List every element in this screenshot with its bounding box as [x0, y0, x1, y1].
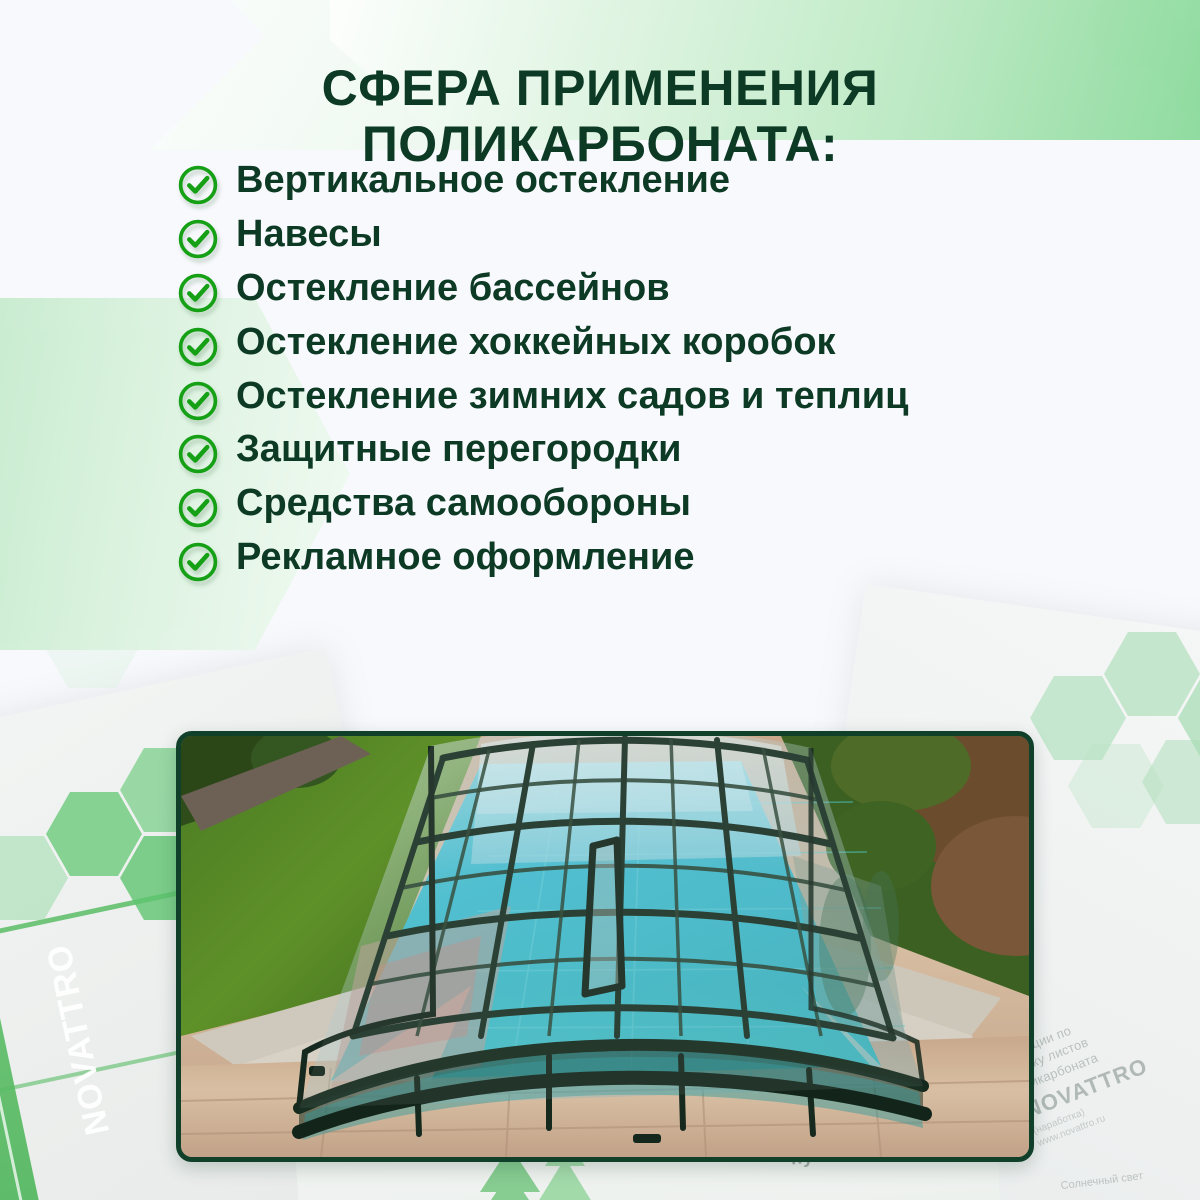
novattro-line-3: нтажу листов — [1007, 981, 1200, 1080]
list-item-label: Навесы — [236, 214, 382, 255]
list-item: Защитные перегородки — [176, 429, 1076, 476]
list-item-label: Вертикальное остекление — [236, 160, 730, 201]
novattro-website: www.novattro.ru — [1036, 1056, 1200, 1151]
list-item-label: Остекление хоккейных коробок — [236, 322, 836, 363]
brochure-bottom-small: Солнечный свет — [1060, 1156, 1200, 1192]
check-circle-icon — [176, 163, 220, 207]
brochure-left-logo: NOVATTRO — [40, 941, 118, 1139]
list-item-label: Средства самообороны — [236, 483, 691, 524]
list-item: Навесы — [176, 214, 1076, 261]
list-item: Остекление бассейнов — [176, 268, 1076, 315]
check-circle-icon — [176, 540, 220, 584]
list-item-label: Защитные перегородки — [236, 429, 681, 470]
list-item: Вертикальное остекление — [176, 160, 1076, 207]
list-item: Остекление зимних садов и теплиц — [176, 376, 1076, 423]
check-circle-icon — [176, 432, 220, 476]
application-list: Вертикальное остекление Навесы Остеклени… — [176, 160, 1076, 591]
brochure-green-bar — [0, 948, 52, 1200]
list-item: Остекление хоккейных коробок — [176, 322, 1076, 369]
check-circle-icon — [176, 379, 220, 423]
list-item-label: Остекление бассейнов — [236, 268, 670, 309]
pool-enclosure-photo — [176, 731, 1034, 1162]
list-item-label: Остекление зимних садов и теплиц — [236, 376, 909, 417]
page-title: СФЕРА ПРИМЕНЕНИЯ ПОЛИКАРБОНАТА: — [0, 60, 1200, 173]
check-circle-icon — [176, 271, 220, 315]
check-circle-icon — [176, 486, 220, 530]
novattro-brand: NOVATTRO — [1020, 1015, 1200, 1125]
novattro-brand-sub: (наработка) — [1031, 1043, 1200, 1138]
list-item-label: Рекламное оформление — [236, 537, 694, 578]
check-circle-icon — [176, 217, 220, 261]
check-circle-icon — [176, 325, 220, 369]
list-item: Рекламное оформление — [176, 537, 1076, 584]
novattro-line-4: оликарбоната — [1013, 997, 1200, 1096]
slide-root: NOVATTRO ткие ендации по нтажу листов ол… — [0, 0, 1200, 1200]
list-item: Средства самообороны — [176, 483, 1076, 530]
